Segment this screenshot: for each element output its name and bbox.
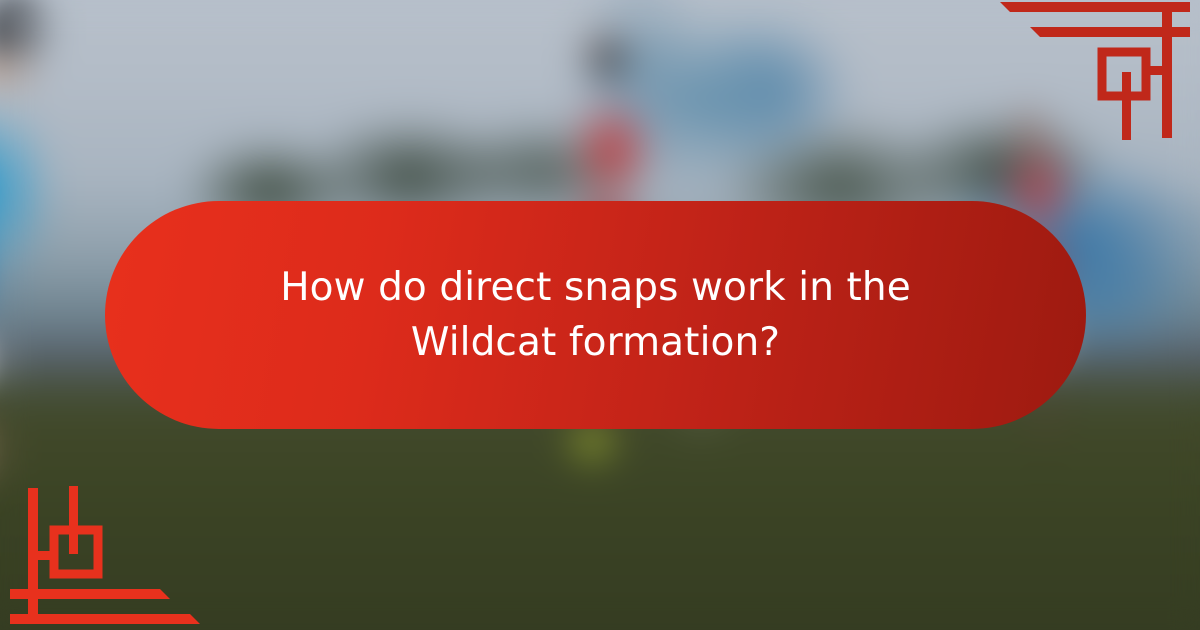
question-card: How do direct snaps work in the Wildcat …: [105, 201, 1086, 429]
question-title: How do direct snaps work in the Wildcat …: [246, 260, 946, 371]
social-card-canvas: How do direct snaps work in the Wildcat …: [0, 0, 1200, 630]
